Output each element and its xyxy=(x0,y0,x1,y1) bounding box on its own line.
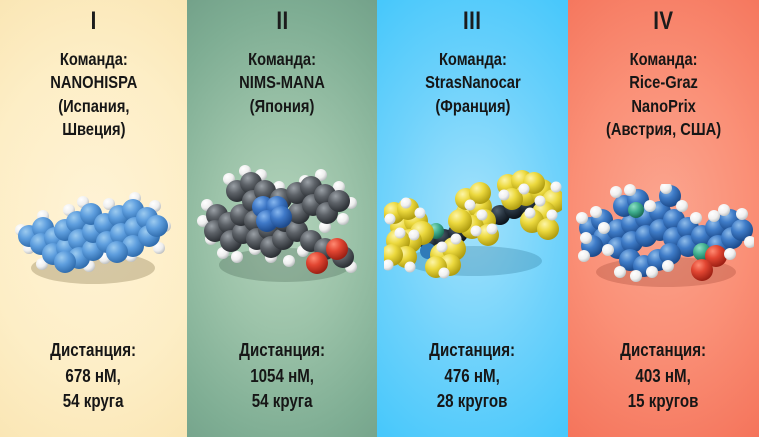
distance-label-1: Дистанция: xyxy=(51,338,137,364)
distance-info-4: Дистанция: 403 нМ, 15 кругов xyxy=(621,338,707,415)
team-country-line-3a: (Франция) xyxy=(425,95,521,118)
team-name-3: StrasNanocar xyxy=(425,71,521,94)
molecule-container-2 xyxy=(187,118,377,339)
panel-team-2: II Команда: NIMS-MANA (Япония) xyxy=(187,0,377,437)
team-info-1: Команда: NANOHISPA (Испания, Швеция) xyxy=(50,48,137,141)
laps-value-4: 15 кругов xyxy=(621,389,707,415)
team-name-4b: NanoPrix xyxy=(606,95,721,118)
team-label-3: Команда: xyxy=(425,48,521,71)
team-country-line-1a: (Испания, xyxy=(50,95,137,118)
team-country-line-1b: Швеция) xyxy=(50,118,137,141)
nims-mana-molecule-image xyxy=(193,161,371,296)
team-name-4a: Rice-Graz xyxy=(606,71,721,94)
nanohispa-molecule-image xyxy=(9,182,179,297)
distance-value-2: 1054 нМ, xyxy=(239,364,325,390)
distance-value-3: 476 нМ, xyxy=(430,364,516,390)
distance-value-1: 678 нМ, xyxy=(51,364,137,390)
distance-info-1: Дистанция: 678 нМ, 54 круга xyxy=(51,338,137,415)
panel-team-3: III Команда: StrasNanocar (Франция) xyxy=(377,0,568,437)
distance-label-3: Дистанция: xyxy=(430,338,516,364)
team-name-1: NANOHISPA xyxy=(50,71,137,94)
distance-label-4: Дистанция: xyxy=(621,338,707,364)
rice-graz-nanoprix-molecule-image xyxy=(574,184,754,296)
team-info-3: Команда: StrasNanocar (Франция) xyxy=(425,48,521,118)
distance-label-2: Дистанция: xyxy=(239,338,325,364)
laps-value-3: 28 кругов xyxy=(430,389,516,415)
panel-numeral-2: II xyxy=(276,9,288,34)
molecule-container-1 xyxy=(0,141,187,338)
strasnanocar-molecule-image xyxy=(384,169,562,287)
panel-team-4: IV Команда: Rice-Graz NanoPrix (Австрия,… xyxy=(568,0,759,437)
team-country-line-2a: (Япония) xyxy=(239,95,325,118)
molecule-container-3 xyxy=(377,118,568,339)
team-info-2: Команда: NIMS-MANA (Япония) xyxy=(239,48,325,118)
team-label-1: Команда: xyxy=(50,48,137,71)
team-info-4: Команда: Rice-Graz NanoPrix (Австрия, СШ… xyxy=(606,48,721,141)
team-label-2: Команда: xyxy=(239,48,325,71)
nitrogen-atoms-2 xyxy=(252,196,292,232)
panel-team-1: I Команда: NANOHISPA (Испания, Швеция) xyxy=(0,0,187,437)
team-name-2: NIMS-MANA xyxy=(239,71,325,94)
nanocar-race-figure: I Команда: NANOHISPA (Испания, Швеция) xyxy=(0,0,759,437)
team-country-line-4a: (Австрия, США) xyxy=(606,118,721,141)
distance-value-4: 403 нМ, xyxy=(621,364,707,390)
panel-numeral-1: I xyxy=(90,9,96,34)
laps-value-1: 54 круга xyxy=(51,389,137,415)
distance-info-3: Дистанция: 476 нМ, 28 кругов xyxy=(430,338,516,415)
team-label-4: Команда: xyxy=(606,48,721,71)
laps-value-2: 54 круга xyxy=(239,389,325,415)
panel-numeral-4: IV xyxy=(653,9,673,34)
distance-info-2: Дистанция: 1054 нМ, 54 круга xyxy=(239,338,325,415)
panel-numeral-3: III xyxy=(463,9,481,34)
molecule-container-4 xyxy=(568,141,759,338)
